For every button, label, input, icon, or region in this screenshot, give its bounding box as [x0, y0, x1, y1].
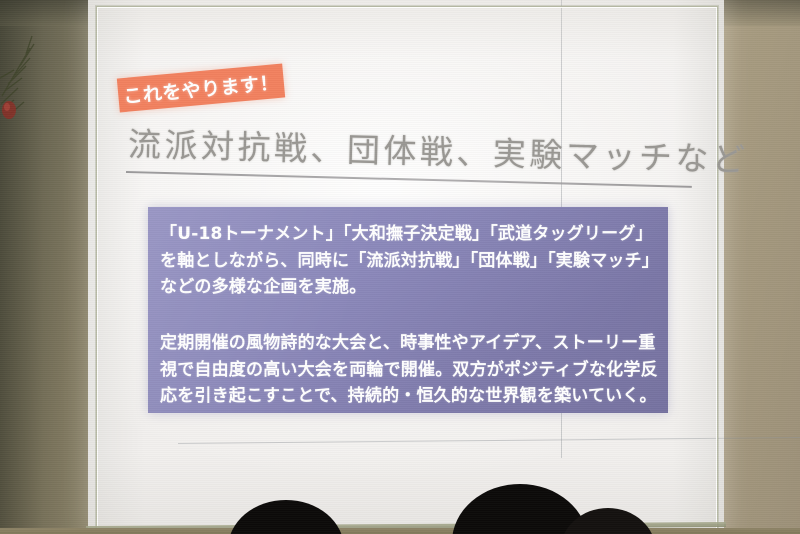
red-berry-icon [2, 101, 16, 119]
photo-scene: これをやります！ 流派対抗戦、団体戦、実験マッチなど 「U-18トーナメント」「… [0, 0, 800, 534]
slide-body-paragraph-1: 「U-18トーナメント」「大和撫子決定戦」「武道タッグリーグ」を軸としながら、同… [160, 221, 660, 301]
slide-body-paragraph-2: 定期開催の風物詩的な大会と、時事性やアイデア、ストーリー重視で自由度の高い大会を… [160, 330, 660, 410]
slide-body-box: 「U-18トーナメント」「大和撫子決定戦」「武道タッグリーグ」を軸としながら、同… [148, 207, 668, 413]
whiteboard-seam-horizontal [178, 437, 800, 444]
pine-sprig-icon [0, 18, 48, 128]
wall-floor-strip [0, 528, 800, 534]
